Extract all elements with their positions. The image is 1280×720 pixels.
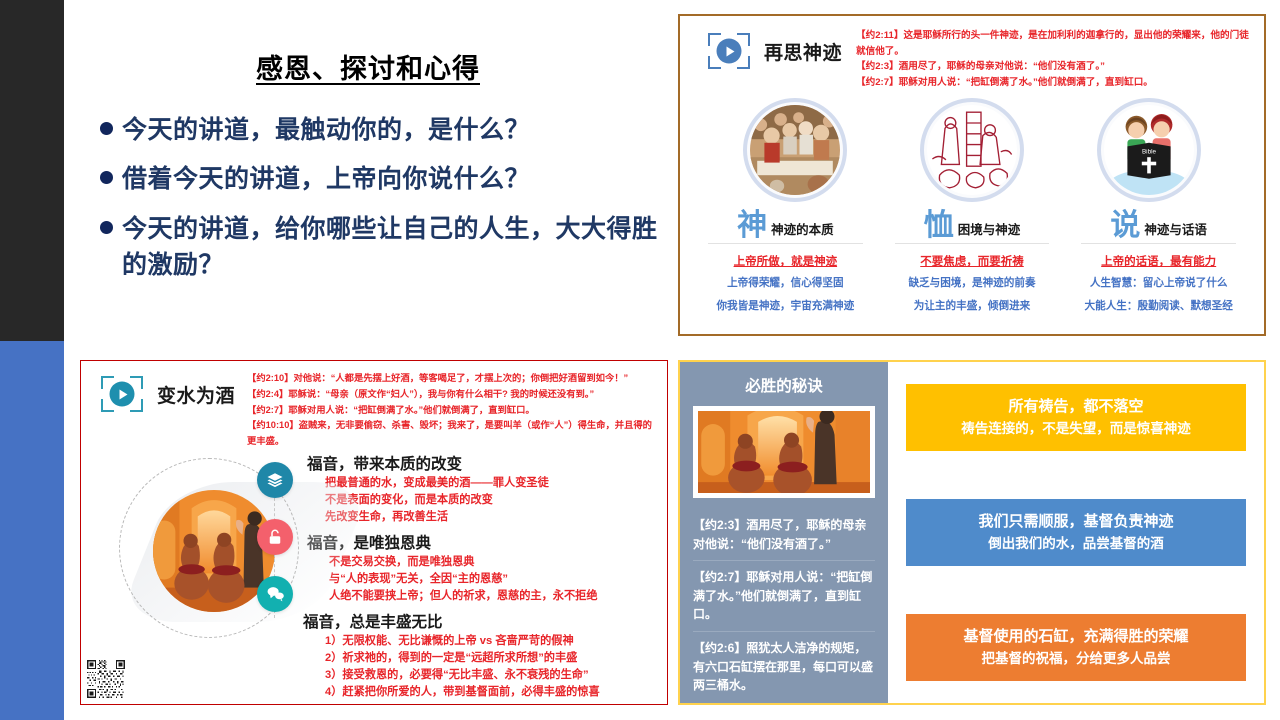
point-group: 福音，总是丰盛无比 1）无限权能、无比谦慨的上帝 vs 吝啬严苛的假神 2）祈求…	[307, 610, 657, 701]
water-to-wine-panel: 变水为酒 【约2:10】对他说：“人都是先摆上好酒，等客喝足了，才摆上次的；你倒…	[80, 360, 668, 705]
point-column: 神 神迹的本质 上帝所做，就是神迹 上帝得荣耀，信心得坚固 你我皆是神迹，宇宙充…	[692, 212, 879, 315]
group-title: 福音，带来本质的改变	[307, 452, 657, 474]
verse-line: 【约2:4】耶稣说：“母亲（原文作“妇人”），我与你有什么相干? 我的时候还没有…	[247, 387, 659, 403]
verse-line: 【约2:11】这是耶稣所行的头一件神迹，是在加利利的迦拿行的，显出他的荣耀来，他…	[856, 28, 1254, 59]
verse-line: 【约10:10】盗贼来，无非要偷窃、杀害、毁坏；我来了，是要叫羊（或作“人”）得…	[247, 418, 659, 450]
column-heading: 恤 困境与神迹	[895, 212, 1050, 244]
point-column: 说 神迹与话语 上帝的话语，最有能力 人生智慧：留心上帝说了什么 大能人生：殷勤…	[1065, 212, 1252, 315]
group-title: 福音，总是丰盛无比	[303, 610, 657, 632]
panel-body: 福音，带来本质的改变 把最普通的水，变成最美的酒——罪人变圣徒 不是表面的变化，…	[81, 452, 667, 705]
list-item: 借着今天的讲道，上帝向你说什么？	[100, 161, 664, 197]
cana-illustration	[698, 411, 870, 493]
panel-header: 再思神迹 【约2:11】这是耶稣所行的头一件神迹，是在加利利的迦拿行的，显出他的…	[680, 16, 1264, 90]
cta-banner-prayer: 所有祷告，都不落空 祷告连接的，不是失望，而是惊喜神迹	[906, 384, 1246, 451]
group-line: 不是表面的变化，而是本质的改变	[307, 492, 657, 509]
three-point-columns: 神 神迹的本质 上帝所做，就是神迹 上帝得荣耀，信心得坚固 你我皆是神迹，宇宙充…	[680, 212, 1264, 315]
verse-line: 【约2:6】照犹太人洁净的规矩，有六口石缸摆在那里，每口可以盛两三桶水。	[693, 631, 875, 702]
question-list: 今天的讲道，最触动你的，是什么？ 借着今天的讲道，上帝向你说什么？ 今天的讲道，…	[64, 112, 672, 283]
scripture-sidebar: 必胜的秘诀	[680, 362, 888, 703]
rethink-miracle-panel: 再思神迹 【约2:11】这是耶稣所行的头一件神迹，是在加利利的迦拿行的，显出他的…	[678, 14, 1266, 336]
verse-line: 【约2:10】对他说：“人都是先摆上好酒，等客喝足了，才摆上次的；你倒把好酒留到…	[247, 371, 659, 387]
slide-canvas: 感恩、探讨和心得 今天的讲道，最触动你的，是什么？ 借着今天的讲道，上帝向你说什…	[0, 0, 1280, 720]
unlock-icon	[257, 519, 293, 555]
panel-title: 再思神迹	[764, 38, 842, 65]
servants-line-art	[927, 105, 1017, 195]
red-line-art-servants-jars	[920, 98, 1024, 202]
list-item: 今天的讲道，给你哪些让自己的人生，大大得胜的激励？	[100, 211, 664, 284]
cta-headline: 基督使用的石缸，充满得胜的荣耀	[912, 627, 1240, 647]
wedding-at-cana-painting	[743, 98, 847, 202]
qr-code-image	[87, 660, 125, 698]
verse-block: 【约2:10】对他说：“人都是先摆上好酒，等客喝足了，才摆上次的；你倒把好酒留到…	[247, 371, 659, 450]
point-column: 恤 困境与神迹 不要焦虑，而要祈祷 缺乏与困境，是神迹的前奏 为让主的丰盛，倾倒…	[879, 212, 1066, 315]
column-key-point: 上帝的话语，最有能力	[1071, 253, 1246, 269]
cta-subline: 祷告连接的，不是失望，而是惊喜神迹	[912, 420, 1240, 438]
jesus-cana-water-jars-illustration	[693, 406, 875, 498]
circle-image-row: Bible	[680, 98, 1264, 202]
list-item: 今天的讲道，最触动你的，是什么？	[100, 112, 664, 148]
column-detail: 你我皆是神迹，宇宙充满神迹	[698, 298, 873, 315]
big-character: 说	[1110, 212, 1140, 240]
photo-frame	[698, 411, 870, 493]
cta-headline: 所有祷告，都不落空	[912, 397, 1240, 417]
questions-slide: 感恩、探讨和心得 今天的讲道，最触动你的，是什么？ 借着今天的讲道，上帝向你说什…	[64, 0, 672, 341]
group-line: 2）祈求祂的，得到的一定是“远超所求所想”的丰盛	[307, 650, 657, 667]
big-character: 神	[737, 212, 767, 240]
verse-line: 【约2:3】酒用尽了，耶稣的母亲对他说：“他们没有酒了。”	[856, 59, 1254, 75]
cta-banner-glory: 基督使用的石缸，充满得胜的荣耀 把基督的祝福，分给更多人品尝	[906, 614, 1246, 681]
column-detail: 上帝得荣耀，信心得坚固	[698, 275, 873, 292]
cta-column: 所有祷告，都不落空 祷告连接的，不是失望，而是惊喜神迹 我们只需顺服，基督负责神…	[888, 362, 1264, 703]
left-dark-bar	[0, 0, 64, 341]
svg-text:Bible: Bible	[1142, 149, 1157, 156]
column-detail: 缺乏与困境，是神迹的前奏	[885, 275, 1060, 292]
point-group: 福音，是唯独恩典 不是交易交换，而是唯独恩典 与“人的表现”无关，全因“主的恩慈…	[307, 531, 657, 605]
play-icon[interactable]	[101, 376, 143, 412]
page-title: 感恩、探讨和心得	[64, 47, 672, 86]
question-text: 今天的讲道，给你哪些让自己的人生，大大得胜的激励？	[122, 211, 664, 284]
layers-icon	[257, 462, 293, 498]
column-detail: 大能人生：殷勤阅读、默想圣经	[1071, 298, 1246, 315]
column-key-point: 上帝所做，就是神迹	[698, 253, 873, 269]
point-group: 福音，带来本质的改变 把最普通的水，变成最美的酒——罪人变圣徒 不是表面的变化，…	[307, 452, 657, 526]
panel-title: 变水为酒	[157, 381, 235, 408]
column-heading: 说 神迹与话语	[1081, 212, 1236, 244]
column-subtitle: 神迹的本质	[771, 219, 834, 240]
verse-block: 【约2:11】这是耶稣所行的头一件神迹，是在加利利的迦拿行的，显出他的荣耀来，他…	[856, 28, 1254, 90]
group-line: 不是交易交换，而是唯独恩典	[307, 554, 657, 571]
verse-line: 【约2:3】酒用尽了，耶稣的母亲对他说：“他们没有酒了。”	[693, 509, 875, 560]
question-text: 今天的讲道，最触动你的，是什么？	[122, 112, 664, 148]
circle-image: Bible	[1104, 105, 1194, 195]
group-line: 人绝不能要挟上帝；但人的祈求，恩慈的主，永不拒绝	[307, 588, 657, 605]
question-text: 借着今天的讲道，上帝向你说什么？	[122, 161, 664, 197]
qr-code[interactable]	[87, 660, 125, 698]
bullet-icon	[100, 221, 113, 234]
circle-image	[750, 105, 840, 195]
group-line: 把最普通的水，变成最美的酒——罪人变圣徒	[307, 475, 657, 492]
left-blue-bar	[0, 341, 64, 720]
wedding-feast-artwork	[750, 105, 840, 195]
column-subtitle: 神迹与话语	[1144, 219, 1207, 240]
play-icon[interactable]	[708, 33, 750, 69]
column-detail: 为让主的丰盛，倾倒进来	[885, 298, 1060, 315]
cta-subline: 倒出我们的水，品尝基督的酒	[912, 535, 1240, 553]
children-reading-bible: Bible	[1097, 98, 1201, 202]
cta-headline: 我们只需顺服，基督负责神迹	[912, 512, 1240, 532]
verse-line: 【约2:7】耶稣对用人说：“把缸倒满了水。”他们就倒满了，直到缸口。	[247, 403, 659, 419]
teaching-points: 福音，带来本质的改变 把最普通的水，变成最美的酒——罪人变圣徒 不是表面的变化，…	[307, 452, 667, 705]
group-line: 先改变生命，再改善生活	[307, 509, 657, 526]
group-title: 福音，是唯独恩典	[307, 531, 657, 553]
panel-header: 变水为酒 【约2:10】对他说：“人都是先摆上好酒，等客喝足了，才摆上次的；你倒…	[81, 361, 667, 450]
group-line: 4）赶紧把你所爱的人，带到基督面前，必得丰盛的惊喜	[307, 684, 657, 701]
chat-bubbles-icon	[257, 576, 293, 612]
group-line: 与“人的表现”无关，全因“主的恩慈”	[307, 571, 657, 588]
verse-line: 【约2:7】耶稣对用人说：“把缸倒满了水。”他们就倒满了，直到缸口。	[693, 560, 875, 631]
verse-line: 【约2:7】耶稣对用人说：“把缸倒满了水。”他们就倒满了，直到缸口。	[856, 75, 1254, 91]
secret-to-victory-panel: 必胜的秘诀	[678, 360, 1266, 705]
circle-image	[927, 105, 1017, 195]
big-character: 恤	[924, 212, 954, 240]
icon-column	[257, 462, 293, 633]
column-subtitle: 困境与神迹	[958, 219, 1021, 240]
group-line: 3）接受救恩的，必要得“无比丰盛、永不衰残的生命”	[307, 667, 657, 684]
bullet-icon	[100, 122, 113, 135]
column-heading: 神 神迹的本质	[708, 212, 863, 244]
bullet-icon	[100, 171, 113, 184]
cta-banner-obedience: 我们只需顺服，基督负责神迹 倒出我们的水，品尝基督的酒	[906, 499, 1246, 566]
kids-bible-clipart: Bible	[1104, 105, 1194, 195]
column-detail: 人生智慧：留心上帝说了什么	[1071, 275, 1246, 292]
cta-subline: 把基督的祝福，分给更多人品尝	[912, 650, 1240, 668]
column-key-point: 不要焦虑，而要祈祷	[885, 253, 1060, 269]
group-line: 1）无限权能、无比谦慨的上帝 vs 吝啬严苛的假神	[307, 633, 657, 650]
sidebar-title: 必胜的秘诀	[693, 374, 875, 396]
